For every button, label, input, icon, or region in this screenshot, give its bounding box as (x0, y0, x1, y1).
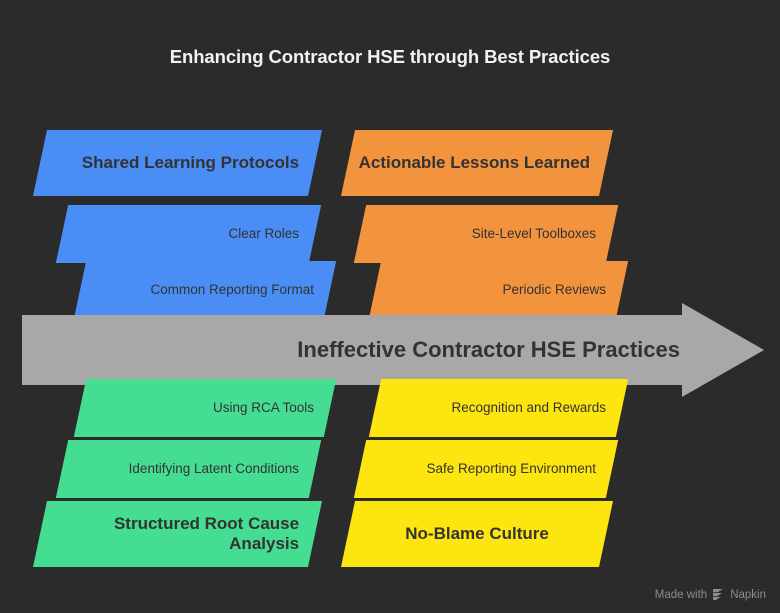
page-title: Enhancing Contractor HSE through Best Pr… (0, 46, 780, 68)
napkin-logo-icon (712, 588, 725, 601)
chip-label: Site-Level Toolboxes (360, 226, 596, 242)
diagram-canvas: Enhancing Contractor HSE through Best Pr… (0, 0, 780, 613)
watermark-brand: Napkin (730, 589, 766, 601)
watermark[interactable]: Made with Napkin (655, 588, 766, 601)
chip-label: Common Reporting Format (80, 282, 314, 298)
chip-label: Actionable Lessons Learned (348, 153, 590, 173)
chip-label: Using RCA Tools (80, 400, 314, 416)
watermark-prefix: Made with (655, 589, 707, 601)
chip-label: No-Blame Culture (362, 524, 592, 544)
chip-safe-reporting-environment[interactable]: Safe Reporting Environment (354, 440, 618, 498)
chip-shared-learning-protocols[interactable]: Shared Learning Protocols (33, 130, 322, 196)
chip-label: Structured Root Cause Analysis (40, 514, 299, 553)
chip-clear-roles[interactable]: Clear Roles (56, 205, 321, 263)
chip-structured-root-cause-analysis[interactable]: Structured Root Cause Analysis (33, 501, 322, 567)
chip-identifying-latent-conditions[interactable]: Identifying Latent Conditions (56, 440, 321, 498)
chip-using-rca-tools[interactable]: Using RCA Tools (74, 379, 336, 437)
chip-label: Shared Learning Protocols (40, 153, 299, 173)
chip-site-level-toolboxes[interactable]: Site-Level Toolboxes (354, 205, 618, 263)
chip-label: Clear Roles (62, 226, 299, 242)
chip-no-blame-culture[interactable]: No-Blame Culture (341, 501, 613, 567)
chip-recognition-and-rewards[interactable]: Recognition and Rewards (369, 379, 628, 437)
chip-actionable-lessons-learned[interactable]: Actionable Lessons Learned (341, 130, 613, 196)
chip-label: Periodic Reviews (375, 282, 606, 298)
chip-label: Recognition and Rewards (375, 400, 606, 416)
chip-label: Safe Reporting Environment (360, 461, 596, 477)
chip-label: Identifying Latent Conditions (62, 461, 299, 477)
